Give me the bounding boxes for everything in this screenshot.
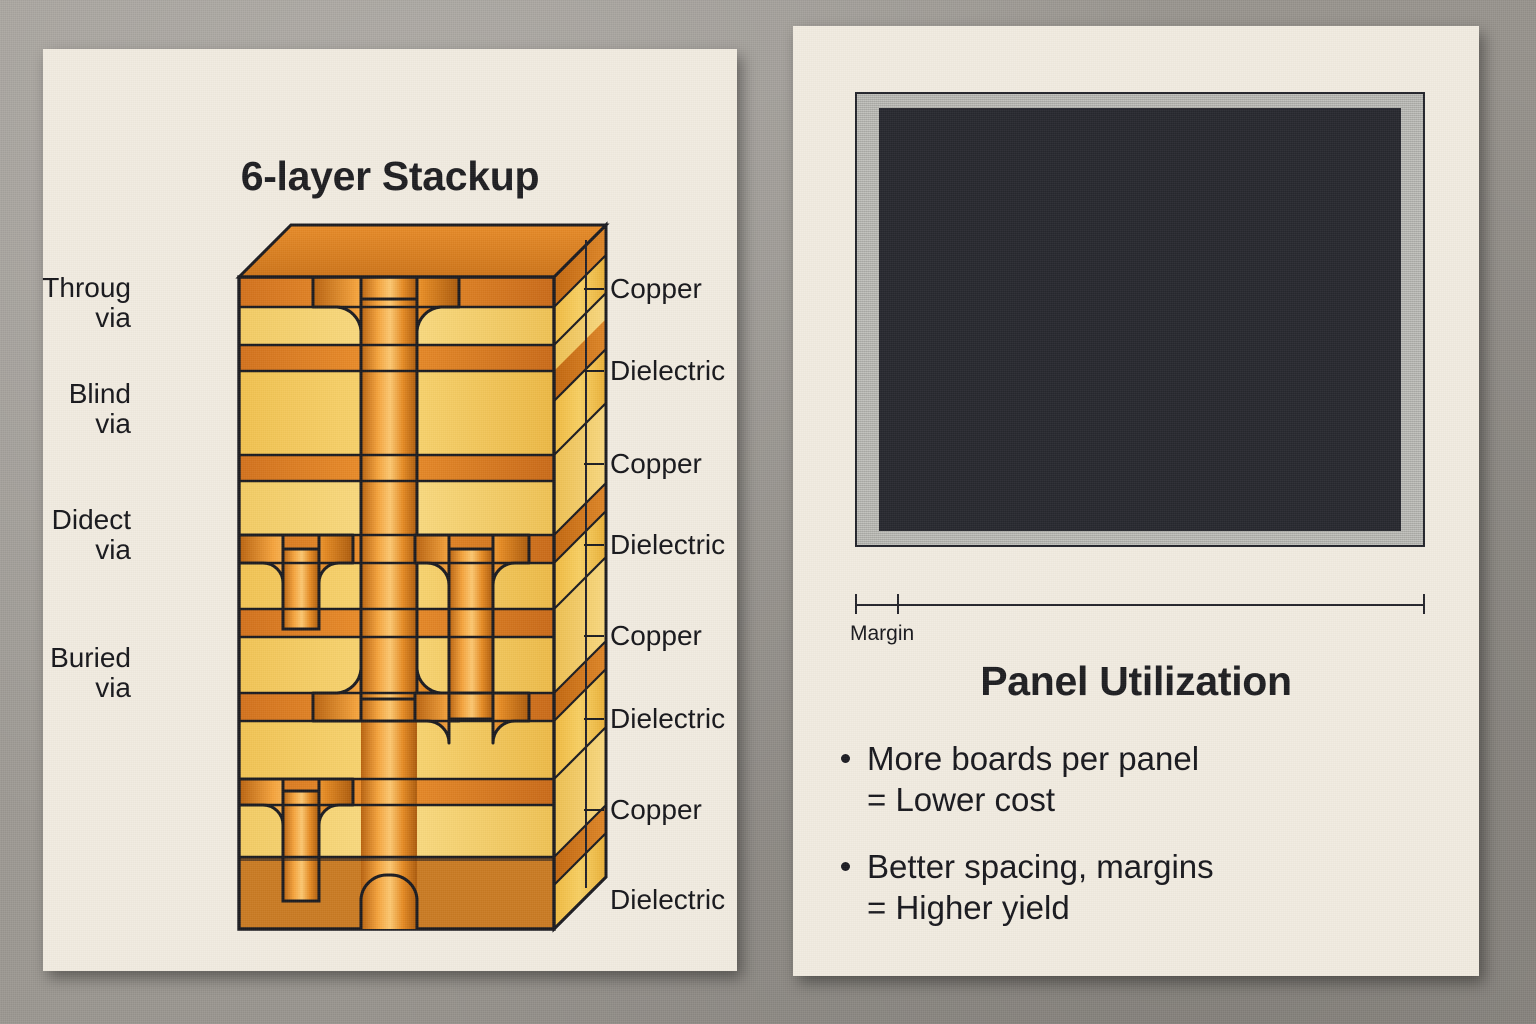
panel-board-grid	[879, 108, 1401, 531]
bullet-dot-icon	[841, 754, 850, 763]
tick-copper-1	[584, 288, 604, 290]
dimension-tick-left	[855, 594, 857, 614]
tick-copper-2	[584, 463, 604, 465]
layer-label-copper-3: Copper	[610, 620, 702, 652]
panel-utilization-card: Margin Panel Utilization More boards per…	[793, 26, 1479, 976]
dimension-tick-right	[1423, 594, 1425, 614]
panel-diagram	[855, 92, 1425, 547]
benefits-list: More boards per panel = Lower cost Bette…	[841, 738, 1441, 954]
dimension-tick-margin	[897, 594, 899, 614]
tick-copper-3	[584, 635, 604, 637]
bullet-text: Better spacing, margins = Higher yield	[867, 846, 1214, 928]
stackup-card: 6-layer Stackup Throug via Blind via Did…	[43, 49, 737, 971]
tick-dielectric-3	[584, 718, 604, 720]
stackup-front-face	[239, 225, 554, 935]
layer-label-copper-4: Copper	[610, 794, 702, 826]
stackup-block	[43, 49, 737, 971]
stackup-diagram: Throug via Blind via Didect via Buried v…	[43, 49, 737, 971]
layer-label-copper-2: Copper	[610, 448, 702, 480]
leader-rail	[585, 240, 587, 888]
bullet-dot-icon	[841, 862, 850, 871]
tick-dielectric-2	[584, 544, 604, 546]
tick-dielectric-1	[584, 370, 604, 372]
layer-label-dielectric-1: Dielectric	[610, 355, 725, 387]
dimension-line	[855, 604, 1425, 606]
list-item: Better spacing, margins = Higher yield	[841, 846, 1441, 928]
bullet-text: More boards per panel = Lower cost	[867, 738, 1199, 820]
stackup-side-face	[554, 225, 606, 929]
layer-label-dielectric-2: Dielectric	[610, 529, 725, 561]
layer-label-dielectric-3: Dielectric	[610, 703, 725, 735]
layer-label-copper-1: Copper	[610, 273, 702, 305]
page-title-panel: Panel Utilization	[793, 658, 1479, 705]
stackup-top-face	[239, 225, 606, 277]
list-item: More boards per panel = Lower cost	[841, 738, 1441, 820]
margin-label: Margin	[850, 622, 914, 646]
layer-label-dielectric-4: Dielectric	[610, 884, 725, 916]
tick-copper-4	[584, 809, 604, 811]
